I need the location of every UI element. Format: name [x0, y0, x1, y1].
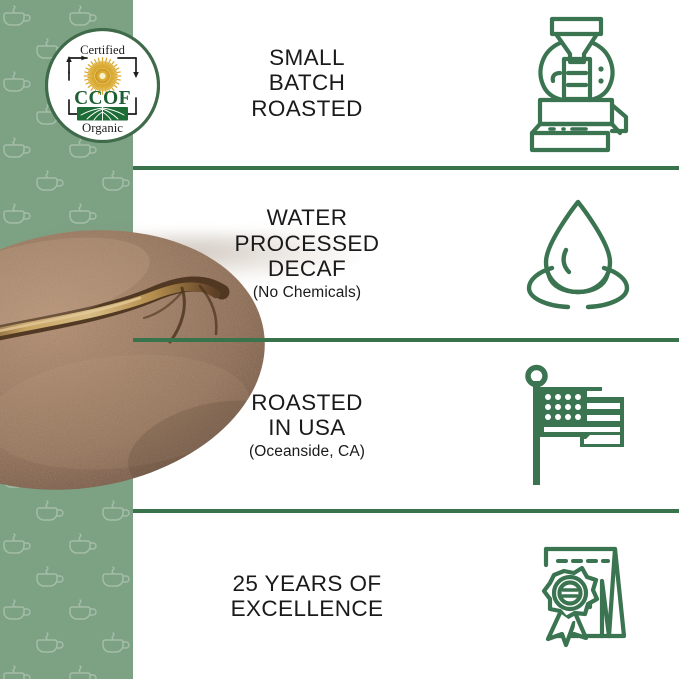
feature-text-block: 25 YEARS OF EXCELLENCE	[133, 571, 485, 622]
feature-title: WATER PROCESSED DECAF	[133, 205, 481, 282]
feature-row-water-processed-decaf: WATER PROCESSED DECAF (No Chemicals)	[133, 170, 679, 338]
usa-flag-icon	[485, 363, 671, 489]
feature-subtitle: (Oceanside, CA)	[133, 442, 481, 462]
product-feature-infographic: Certified CCOF	[0, 0, 679, 679]
feature-row-roasted-in-usa: ROASTED IN USA (Oceanside, CA)	[133, 342, 679, 509]
feature-title: 25 YEARS OF EXCELLENCE	[133, 571, 481, 622]
water-droplet-icon	[485, 194, 671, 314]
feature-row-small-batch-roasted: SMALL BATCH ROASTED	[133, 0, 679, 166]
feature-text-block: ROASTED IN USA (Oceanside, CA)	[133, 390, 485, 462]
feature-text-block: WATER PROCESSED DECAF (No Chemicals)	[133, 205, 485, 303]
feature-title: SMALL BATCH ROASTED	[133, 45, 481, 122]
feature-subtitle: (No Chemicals)	[133, 283, 481, 303]
coffee-roaster-icon	[485, 13, 671, 153]
feature-title: ROASTED IN USA	[133, 390, 481, 441]
seal-top-text: Certified	[80, 43, 125, 57]
seal-acronym: CCOF	[74, 88, 131, 109]
award-coffee-bag-icon	[485, 535, 671, 657]
feature-rows: SMALL BATCH ROASTED	[133, 0, 679, 679]
feature-row-25-years-of-excellence: 25 YEARS OF EXCELLENCE	[133, 513, 679, 679]
seal-bottom-text: Organic	[82, 121, 123, 135]
feature-text-block: SMALL BATCH ROASTED	[133, 45, 485, 122]
